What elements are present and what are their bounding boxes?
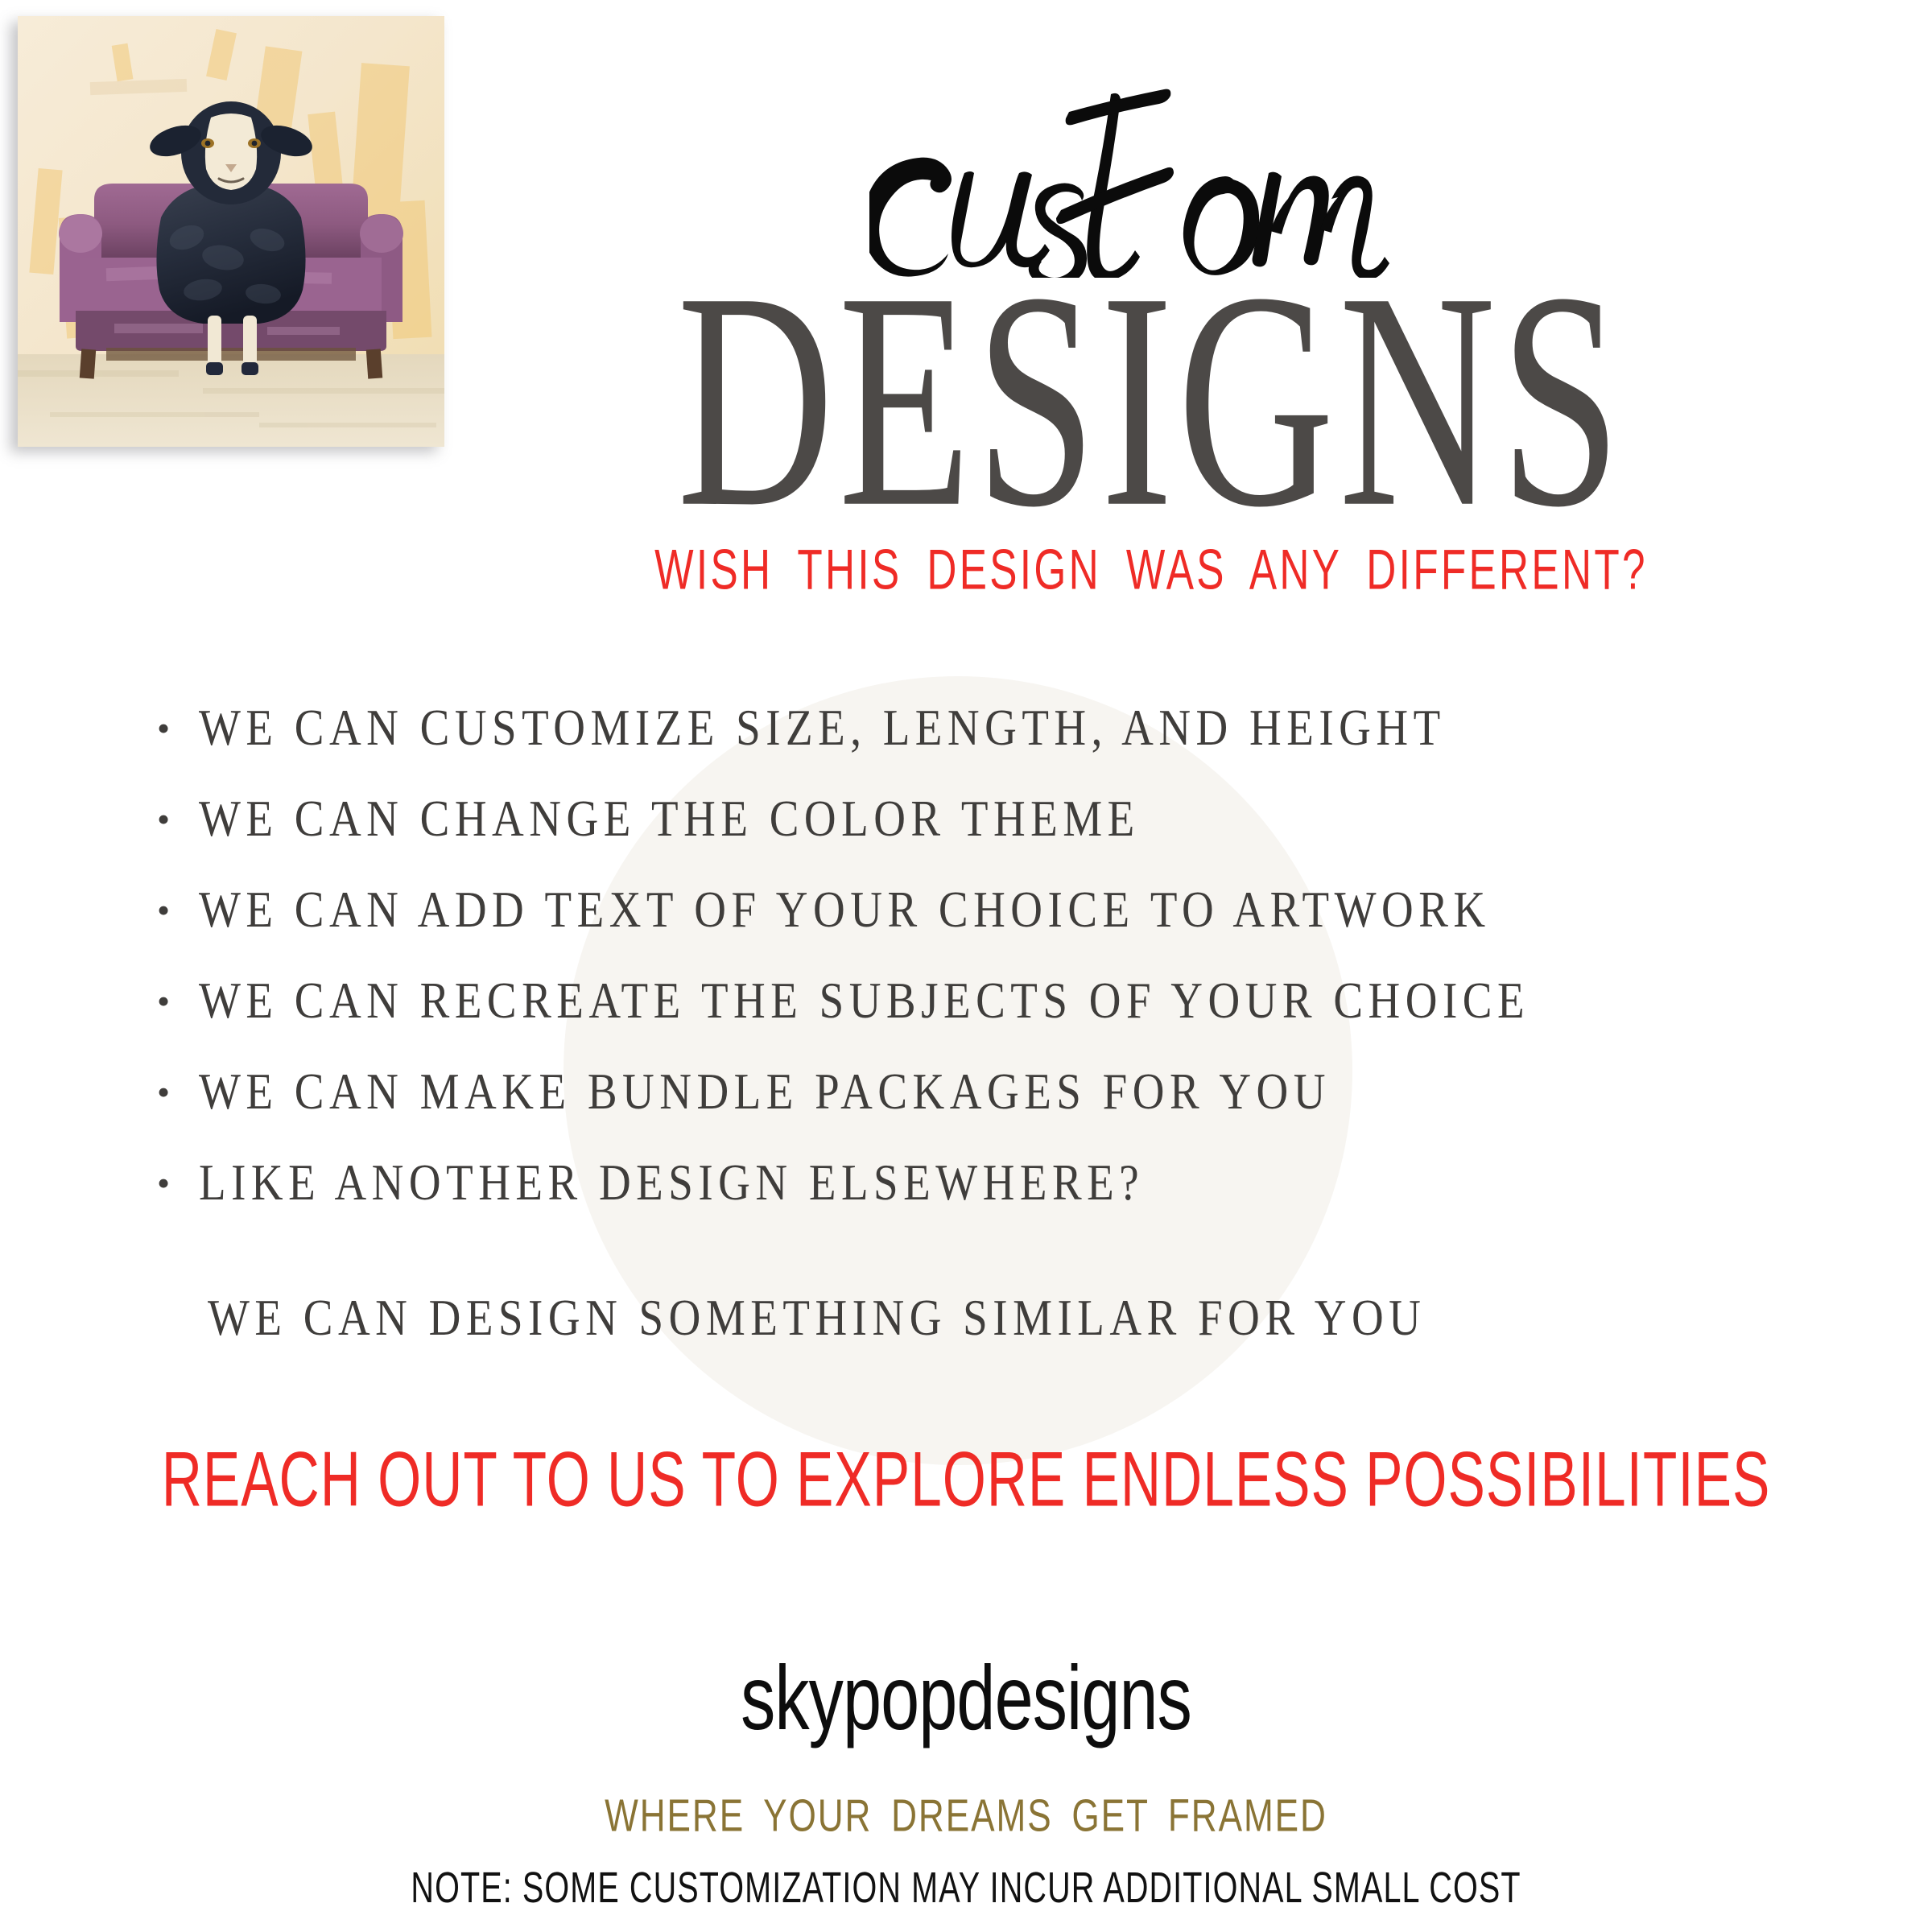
sheep-painting-illustration [18,16,444,447]
list-item-label: LIKE ANOTHER DESIGN ELSEWHERE? [199,1153,1144,1212]
tagline-question: WISH THIS DESIGN WAS ANY DIFFERENT? [486,538,1817,603]
brand-name: skypopdesigns [97,1646,1835,1751]
list-item: • WE CAN CUSTOMIZE SIZE, LENGTH, AND HEI… [157,702,1847,793]
bullet-icon: • [157,983,199,1020]
footnote-text: NOTE: SOME CUSTOMIZATION MAY INCUR ADDIT… [77,1864,1855,1913]
headline-block: DESIGNS WISH THIS DESIGN WAS ANY DIFFERE… [451,76,1851,595]
list-item-label: WE CAN ADD TEXT OF YOUR CHOICE TO ARTWOR… [199,880,1491,939]
list-item: • WE CAN CHANGE THE COLOR THEME [157,793,1847,884]
bullet-icon: • [157,1165,199,1202]
call-to-action-text[interactable]: REACH OUT TO US TO EXPLORE ENDLESS POSSI… [58,1435,1874,1524]
list-item-label: WE CAN MAKE BUNDLE PACKAGES FOR YOU [199,1062,1331,1121]
feature-list: • WE CAN CUSTOMIZE SIZE, LENGTH, AND HEI… [157,702,1847,1248]
page-title-designs: DESIGNS [521,273,1781,526]
bullet-icon: • [157,892,199,929]
list-item: • WE CAN ADD TEXT OF YOUR CHOICE TO ARTW… [157,884,1847,975]
artwork-thumbnail[interactable] [18,16,444,447]
list-item: • WE CAN RECREATE THE SUBJECTS OF YOUR C… [157,975,1847,1066]
bullet-icon: • [157,801,199,838]
bullet-icon: • [157,710,199,747]
list-item-continuation-label: WE CAN DESIGN SOMETHING SIMILAR FOR YOU [208,1288,1426,1347]
list-item-label: WE CAN RECREATE THE SUBJECTS OF YOUR CHO… [199,971,1529,1030]
list-item-label: WE CAN CHANGE THE COLOR THEME [199,789,1140,848]
list-item-label: WE CAN CUSTOMIZE SIZE, LENGTH, AND HEIGH… [199,698,1446,757]
list-item: • LIKE ANOTHER DESIGN ELSEWHERE? [157,1157,1847,1248]
list-item: • WE CAN MAKE BUNDLE PACKAGES FOR YOU [157,1066,1847,1157]
brand-slogan: WHERE YOUR DREAMS GET FRAMED [39,1789,1893,1842]
bullet-icon: • [157,1074,199,1111]
